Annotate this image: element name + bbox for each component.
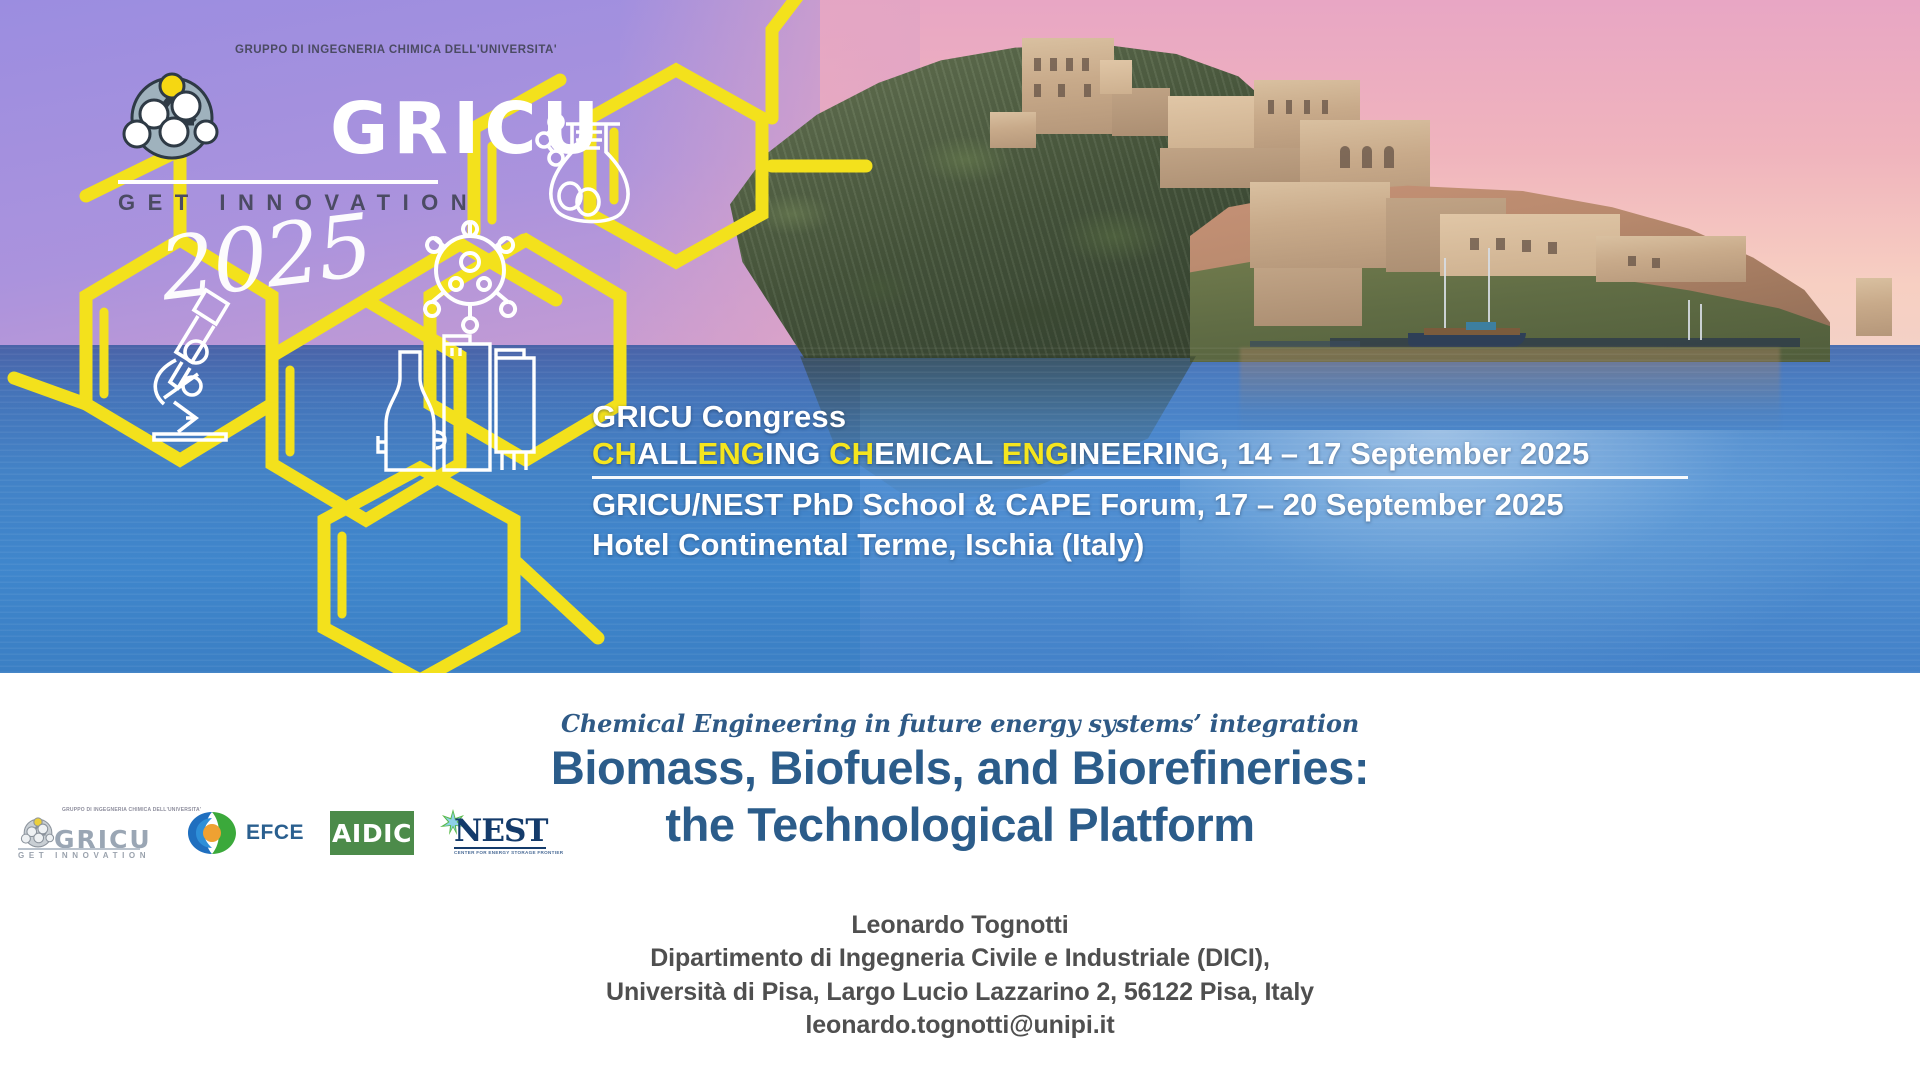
author-name: Leonardo Tognotti bbox=[0, 909, 1920, 942]
sponsor-nest-tagline: CENTER FOR ENERGY STORAGE FRONTIER bbox=[454, 850, 563, 855]
author-affiliation-line-2: Università di Pisa, Largo Lucio Lazzarin… bbox=[0, 976, 1920, 1009]
gricu-molecule-icon bbox=[120, 60, 224, 164]
gricu-logo-divider bbox=[118, 180, 438, 184]
author-email[interactable]: leonardo.tognotti@unipi.it bbox=[0, 1009, 1920, 1042]
presentation-slide: GRUPPO DI INGEGNERIA CHIMICA DELL'UNIVER… bbox=[0, 0, 1920, 1080]
congress-info-block: GRICU Congress CHALLENGING CHEMICAL ENGI… bbox=[592, 400, 1792, 566]
efce-globe-icon bbox=[184, 808, 240, 858]
sponsor-gricu-tagline: GET INNOVATION bbox=[18, 851, 150, 860]
theme-text-segment: ALL bbox=[637, 436, 698, 471]
sponsor-logo-nest: NEST CENTER FOR ENERGY STORAGE FRONTIER bbox=[440, 804, 548, 862]
sponsor-nest-wordmark: NEST bbox=[454, 813, 547, 849]
gricu-congress-logo: GRUPPO DI INGEGNERIA CHIMICA DELL'UNIVER… bbox=[140, 38, 540, 278]
theme-text-segment: INEERING, 14 – 17 September 2025 bbox=[1069, 436, 1589, 471]
track-subtitle: Chemical Engineering in future energy sy… bbox=[0, 709, 1920, 738]
theme-text-segment: EMICAL bbox=[874, 436, 1002, 471]
sponsor-logo-efce: EFCE bbox=[184, 804, 304, 862]
theme-text-segment: ENG bbox=[1002, 436, 1069, 471]
slide-content: Chemical Engineering in future energy sy… bbox=[0, 673, 1920, 1080]
congress-venue: Hotel Continental Terme, Ischia (Italy) bbox=[592, 525, 1792, 565]
gricu-molecule-icon bbox=[20, 813, 56, 849]
theme-text-segment: CH bbox=[829, 436, 874, 471]
sponsor-logo-gricu: GRUPPO DI INGEGNERIA CHIMICA DELL'UNIVER… bbox=[18, 804, 158, 862]
gricu-logo-top-text: GRUPPO DI INGEGNERIA CHIMICA DELL'UNIVER… bbox=[235, 44, 557, 56]
author-affiliation-line-1: Dipartimento di Ingegneria Civile e Indu… bbox=[0, 942, 1920, 975]
page-title-line-1: Biomass, Biofuels, and Biorefineries: bbox=[310, 739, 1610, 796]
congress-text-divider bbox=[592, 476, 1688, 479]
sponsor-logo-aidic: AIDIC bbox=[330, 804, 414, 862]
author-block: Leonardo Tognotti Dipartimento di Ingegn… bbox=[0, 909, 1920, 1042]
sponsor-gricu-top-text: GRUPPO DI INGEGNERIA CHIMICA DELL'UNIVER… bbox=[62, 807, 201, 813]
sponsor-gricu-divider bbox=[18, 848, 140, 850]
congress-banner: GRUPPO DI INGEGNERIA CHIMICA DELL'UNIVER… bbox=[0, 0, 1920, 673]
sponsor-efce-wordmark: EFCE bbox=[246, 821, 304, 845]
sponsor-aidic-wordmark: AIDIC bbox=[332, 819, 412, 848]
theme-text-segment: CH bbox=[592, 436, 637, 471]
congress-theme-and-dates: CHALLENGING CHEMICAL ENGINEERING, 14 – 1… bbox=[592, 435, 1792, 472]
theme-text-segment: ING bbox=[765, 436, 829, 471]
sponsor-nest-divider bbox=[454, 847, 546, 849]
phd-school-and-dates: GRICU/NEST PhD School & CAPE Forum, 17 –… bbox=[592, 485, 1792, 525]
congress-name: GRICU Congress bbox=[592, 400, 1792, 435]
sponsor-logo-row: GRUPPO DI INGEGNERIA CHIMICA DELL'UNIVER… bbox=[18, 801, 538, 865]
theme-text-segment: ENG bbox=[698, 436, 765, 471]
gricu-wordmark: GRICU bbox=[330, 93, 604, 164]
